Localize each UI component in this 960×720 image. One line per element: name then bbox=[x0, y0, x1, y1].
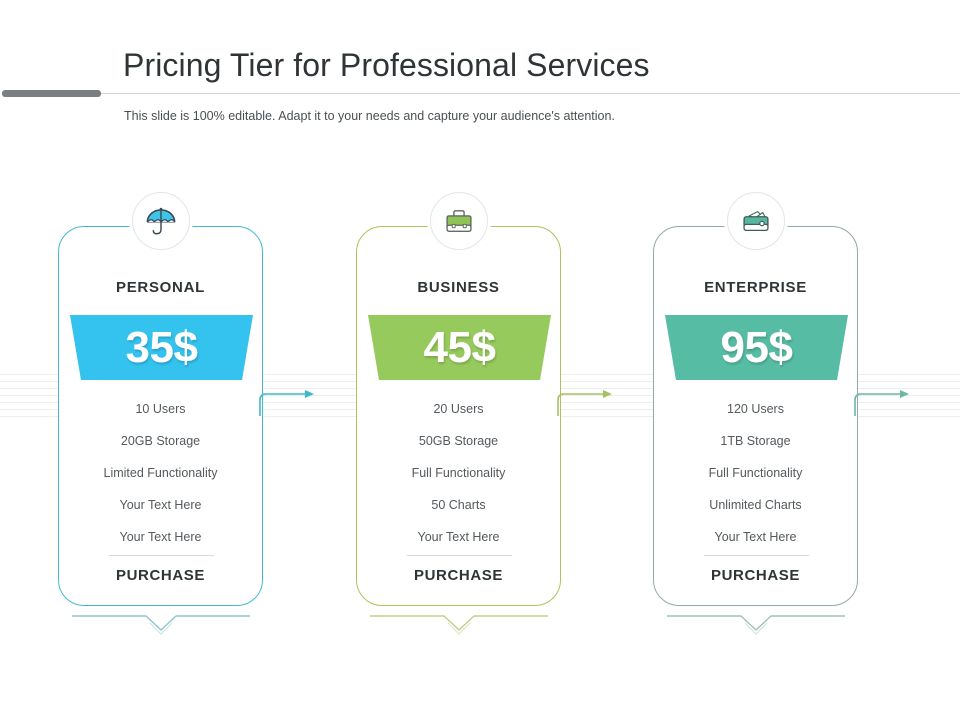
pricing-card-personal[interactable]: PERSONAL 35$ 10 Users 20GB Storage Limit… bbox=[58, 226, 263, 606]
feature-list-enterprise: 120 Users 1TB Storage Full Functionality… bbox=[654, 393, 857, 553]
price-value-personal: 35$ bbox=[70, 315, 253, 380]
list-item: Your Text Here bbox=[59, 521, 262, 553]
list-item: Full Functionality bbox=[357, 457, 560, 489]
list-item: Your Text Here bbox=[654, 521, 857, 553]
price-band-business: 45$ bbox=[368, 315, 551, 380]
purchase-button-business[interactable]: PURCHASE bbox=[357, 567, 560, 584]
price-value-enterprise: 95$ bbox=[665, 315, 848, 380]
briefcase-icon bbox=[430, 192, 488, 250]
umbrella-icon bbox=[132, 192, 190, 250]
card-title-business: BUSINESS bbox=[357, 279, 560, 296]
list-item: 20 Users bbox=[357, 393, 560, 425]
pricing-card-business[interactable]: BUSINESS 45$ 20 Users 50GB Storage Full … bbox=[356, 226, 561, 606]
card-title-personal: PERSONAL bbox=[59, 279, 262, 296]
card-divider bbox=[704, 555, 809, 556]
purchase-button-personal[interactable]: PURCHASE bbox=[59, 567, 262, 584]
connector-arrow-business bbox=[556, 386, 618, 423]
price-value-business: 45$ bbox=[368, 315, 551, 380]
list-item: 1TB Storage bbox=[654, 425, 857, 457]
page-subtitle: This slide is 100% editable. Adapt it to… bbox=[124, 109, 615, 123]
list-item: 50 Charts bbox=[357, 489, 560, 521]
card-title-enterprise: ENTERPRISE bbox=[654, 279, 857, 296]
list-item: 20GB Storage bbox=[59, 425, 262, 457]
feature-list-business: 20 Users 50GB Storage Full Functionality… bbox=[357, 393, 560, 553]
card-divider bbox=[407, 555, 512, 556]
list-item: Full Functionality bbox=[654, 457, 857, 489]
price-band-personal: 35$ bbox=[70, 315, 253, 380]
price-band-enterprise: 95$ bbox=[665, 315, 848, 380]
chevron-down-icon bbox=[667, 612, 845, 641]
title-accent-bar bbox=[2, 90, 101, 97]
pricing-slide: Pricing Tier for Professional Services T… bbox=[0, 0, 960, 720]
chevron-down-icon bbox=[370, 612, 548, 641]
title-rule-line bbox=[101, 93, 960, 94]
pricing-card-enterprise[interactable]: ENTERPRISE 95$ 120 Users 1TB Storage Ful… bbox=[653, 226, 858, 606]
purchase-button-enterprise[interactable]: PURCHASE bbox=[654, 567, 857, 584]
wallet-icon bbox=[727, 192, 785, 250]
connector-arrow-enterprise bbox=[853, 386, 915, 423]
feature-list-personal: 10 Users 20GB Storage Limited Functional… bbox=[59, 393, 262, 553]
list-item: Limited Functionality bbox=[59, 457, 262, 489]
list-item: 120 Users bbox=[654, 393, 857, 425]
list-item: 10 Users bbox=[59, 393, 262, 425]
list-item: Your Text Here bbox=[357, 521, 560, 553]
card-divider bbox=[109, 555, 214, 556]
list-item: Your Text Here bbox=[59, 489, 262, 521]
list-item: Unlimited Charts bbox=[654, 489, 857, 521]
chevron-down-icon bbox=[72, 612, 250, 641]
list-item: 50GB Storage bbox=[357, 425, 560, 457]
connector-arrow-personal bbox=[258, 386, 320, 423]
page-title: Pricing Tier for Professional Services bbox=[123, 47, 650, 84]
